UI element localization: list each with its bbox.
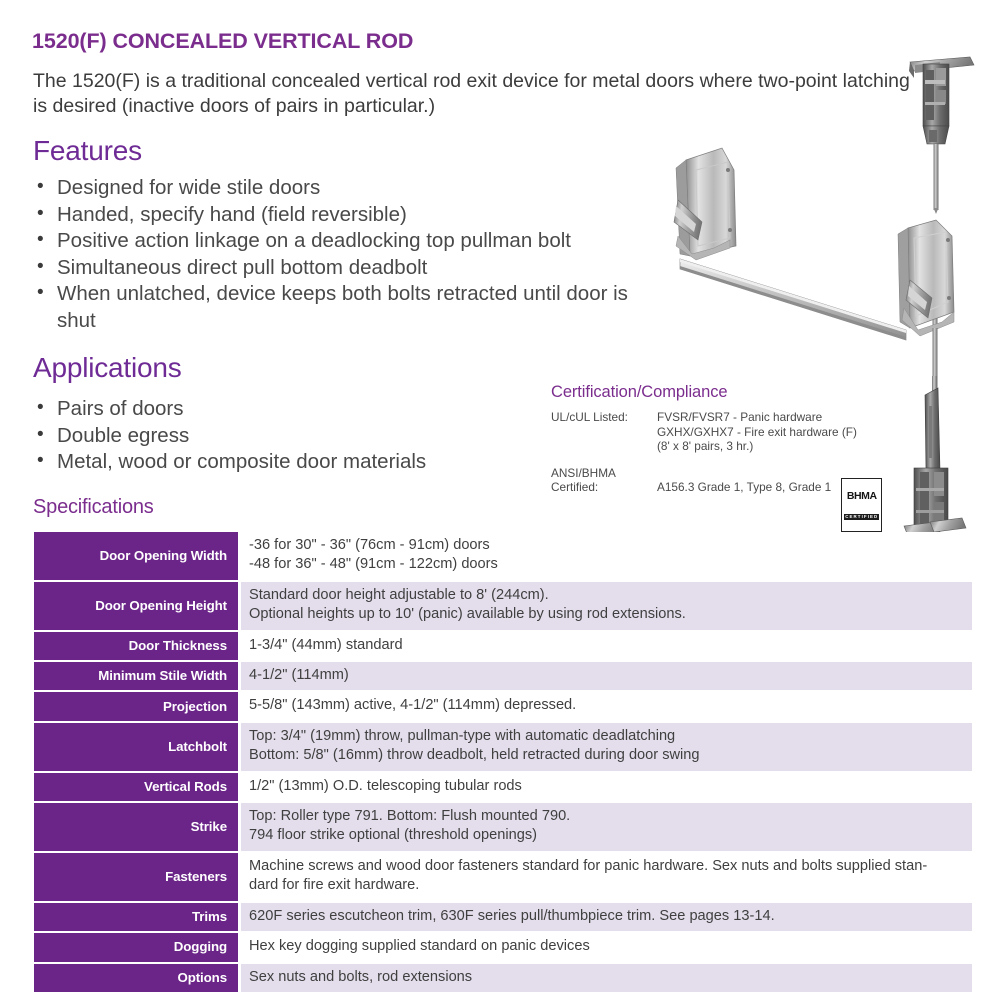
spec-value: Top: Roller type 791. Bottom: Flush moun… [241,803,972,851]
table-row: Latchbolt Top: 3/4" (19mm) throw, pullma… [34,723,972,771]
list-item: When unlatched, device keeps both bolts … [33,281,633,334]
spec-label: Strike [34,803,238,851]
features-list: Designed for wide stile doors Handed, sp… [33,175,633,335]
features-heading: Features [33,135,142,167]
table-row: Options Sex nuts and bolts, rod extensio… [34,964,972,992]
spec-label: Door Opening Width [34,532,238,580]
spec-label: Trims [34,903,238,931]
table-row: Vertical Rods 1/2" (13mm) O.D. telescopi… [34,773,972,801]
table-row: Door Thickness 1-3/4" (44mm) standard [34,632,972,660]
spec-label: Door Thickness [34,632,238,660]
list-item: Designed for wide stile doors [33,175,633,202]
table-row: Projection 5-5/8" (143mm) active, 4-1/2"… [34,692,972,720]
spec-value: 1-3/4" (44mm) standard [241,632,972,660]
product-photo [618,40,1000,540]
spec-label: Dogging [34,933,238,961]
spec-value: 4-1/2" (114mm) [241,662,972,690]
specifications-heading: Specifications [33,496,154,519]
spec-value: 1/2" (13mm) O.D. telescoping tubular rod… [241,773,972,801]
spec-label: Fasteners [34,853,238,901]
table-row: Door Opening Height Standard door height… [34,582,972,630]
spec-label: Vertical Rods [34,773,238,801]
spec-label: Minimum Stile Width [34,662,238,690]
exit-device-illustration [618,40,1000,540]
spec-label: Options [34,964,238,992]
table-row: Dogging Hex key dogging supplied standar… [34,933,972,961]
list-item: Handed, specify hand (field reversible) [33,202,633,229]
spec-label: Door Opening Height [34,582,238,630]
table-row: Fasteners Machine screws and wood door f… [34,853,972,901]
applications-list: Pairs of doors Double egress Metal, wood… [33,396,553,476]
spec-value: 620F series escutcheon trim, 630F series… [241,903,972,931]
list-item: Double egress [33,423,553,450]
spec-value: Sex nuts and bolts, rod extensions [241,964,972,992]
specifications-table: Door Opening Width -36 for 30" - 36" (76… [34,530,972,994]
list-item: Pairs of doors [33,396,553,423]
page-title: 1520(F) CONCEALED VERTICAL ROD [32,29,413,54]
spec-value: Top: 3/4" (19mm) throw, pullman-type wit… [241,723,972,771]
table-row: Minimum Stile Width 4-1/2" (114mm) [34,662,972,690]
table-row: Trims 620F series escutcheon trim, 630F … [34,903,972,931]
spec-value: 5-5/8" (143mm) active, 4-1/2" (114mm) de… [241,692,972,720]
spec-value: Standard door height adjustable to 8' (2… [241,582,972,630]
list-item: Metal, wood or composite door materials [33,449,553,476]
spec-value: Machine screws and wood door fasteners s… [241,853,972,901]
applications-heading: Applications [33,352,182,384]
list-item: Positive action linkage on a deadlocking… [33,228,633,255]
list-item: Simultaneous direct pull bottom deadbolt [33,255,633,282]
table-row: Door Opening Width -36 for 30" - 36" (76… [34,532,972,580]
spec-label: Projection [34,692,238,720]
spec-value: -36 for 30" - 36" (76cm - 91cm) doors -4… [241,532,972,580]
table-row: Strike Top: Roller type 791. Bottom: Flu… [34,803,972,851]
spec-label: Latchbolt [34,723,238,771]
spec-value: Hex key dogging supplied standard on pan… [241,933,972,961]
